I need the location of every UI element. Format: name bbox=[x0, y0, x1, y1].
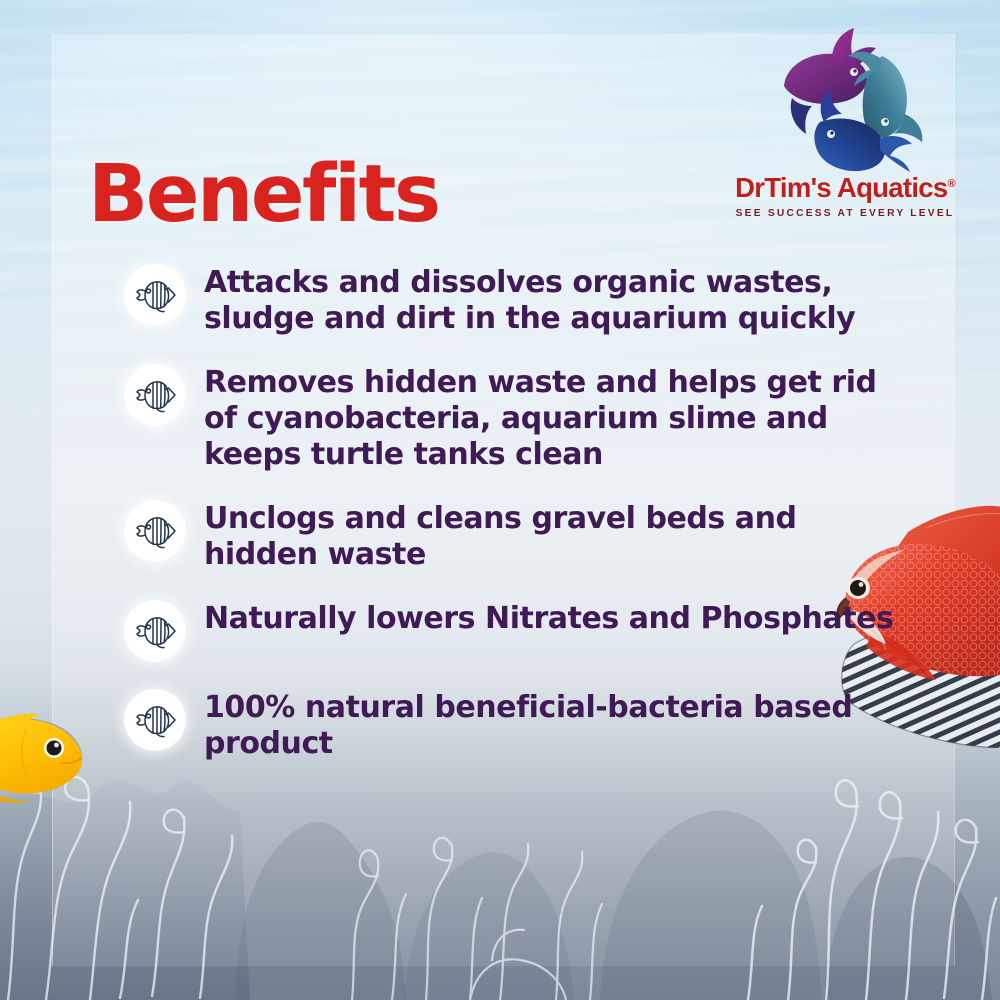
benefit-text: Naturally lowers Nitrates and Phosphates bbox=[204, 598, 893, 637]
benefit-text: 100% natural beneficial-bacteria based p… bbox=[204, 687, 904, 762]
fish-bullet-icon bbox=[124, 264, 186, 326]
list-item: Removes hidden waste and helps get rid o… bbox=[124, 362, 904, 473]
list-item: Naturally lowers Nitrates and Phosphates bbox=[124, 598, 904, 662]
list-item: Attacks and dissolves organic wastes, sl… bbox=[124, 262, 904, 337]
benefits-list: Attacks and dissolves organic wastes, sl… bbox=[124, 262, 904, 762]
benefit-text: Unclogs and cleans gravel beds and hidde… bbox=[204, 498, 904, 573]
list-item: Unclogs and cleans gravel beds and hidde… bbox=[124, 498, 904, 573]
fish-bullet-icon bbox=[124, 364, 186, 426]
fish-bullet-icon bbox=[124, 500, 186, 562]
logo-tagline: SEE SUCCESS AT EVERY LEVEL bbox=[714, 208, 976, 219]
benefit-text: Attacks and dissolves organic wastes, sl… bbox=[204, 262, 904, 337]
yellow-cichlid-fish-photo bbox=[0, 700, 118, 832]
registered-trademark-icon: ® bbox=[947, 178, 954, 190]
benefits-infographic: DrTim's Aquatics® SEE SUCCESS AT EVERY L… bbox=[0, 0, 1000, 1000]
logo-wordmark: DrTim's Aquatics® bbox=[714, 172, 976, 204]
fish-bullet-icon bbox=[124, 600, 186, 662]
three-fish-triskelion-logo-icon bbox=[760, 22, 930, 174]
list-item: 100% natural beneficial-bacteria based p… bbox=[124, 687, 904, 762]
brand-logo: DrTim's Aquatics® SEE SUCCESS AT EVERY L… bbox=[714, 22, 976, 219]
benefit-text: Removes hidden waste and helps get rid o… bbox=[204, 362, 904, 473]
fish-bullet-icon bbox=[124, 689, 186, 751]
page-title: Benefits bbox=[88, 155, 439, 234]
